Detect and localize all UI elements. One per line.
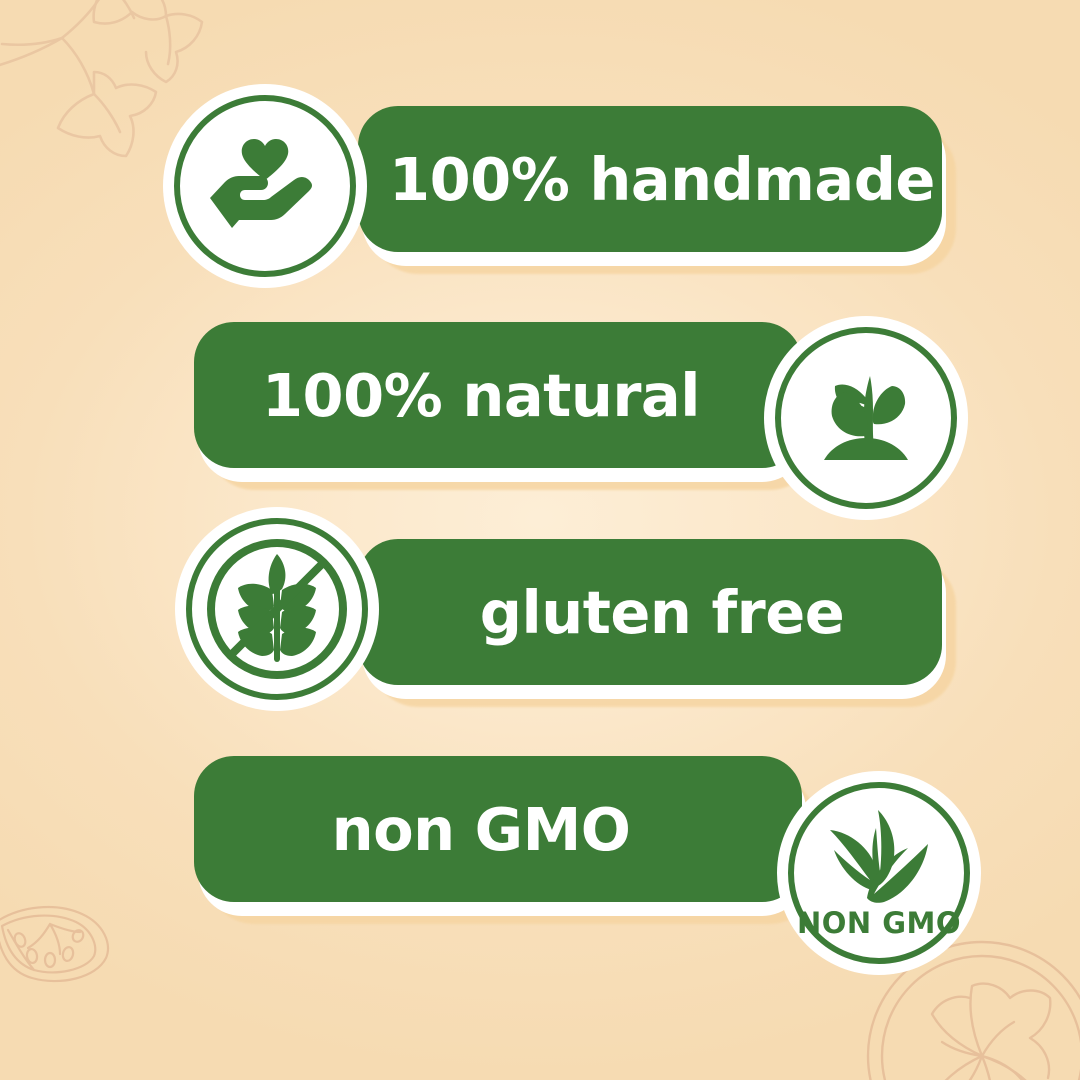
feature-label-handmade: 100% handmade [358, 150, 942, 209]
infographic-canvas: 100% handmade 100% natural [0, 0, 1080, 1080]
sprout-plant-icon [810, 362, 922, 474]
badge-ring [186, 518, 368, 700]
feature-row-non-gmo: non GMO NON GMO [0, 732, 1080, 947]
badge-natural[interactable] [764, 316, 968, 520]
feature-bar-handmade[interactable]: 100% handmade [358, 106, 942, 252]
feature-bar-non-gmo[interactable]: non GMO [194, 756, 802, 902]
no-wheat-icon [202, 534, 352, 684]
hand-holding-heart-icon [209, 136, 321, 236]
badge-non-gmo[interactable]: NON GMO [777, 771, 981, 975]
feature-label-natural: 100% natural [194, 366, 802, 425]
feature-label-gluten-free: gluten free [358, 583, 942, 642]
badge-handmade[interactable] [163, 84, 367, 288]
feature-label-non-gmo: non GMO [194, 800, 802, 859]
feature-bar-natural[interactable]: 100% natural [194, 322, 802, 468]
badge-ring: NON GMO [788, 782, 970, 964]
feature-bar-gluten-free[interactable]: gluten free [358, 539, 942, 685]
badge-gluten-free[interactable] [175, 507, 379, 711]
badge-caption-non-gmo: NON GMO [794, 909, 964, 938]
feature-row-gluten-free: gluten free [0, 515, 1080, 730]
badge-ring [775, 327, 957, 509]
feature-row-handmade: 100% handmade [0, 82, 1080, 297]
three-leaves-icon [818, 806, 940, 914]
feature-row-natural: 100% natural [0, 298, 1080, 513]
badge-ring [174, 95, 356, 277]
